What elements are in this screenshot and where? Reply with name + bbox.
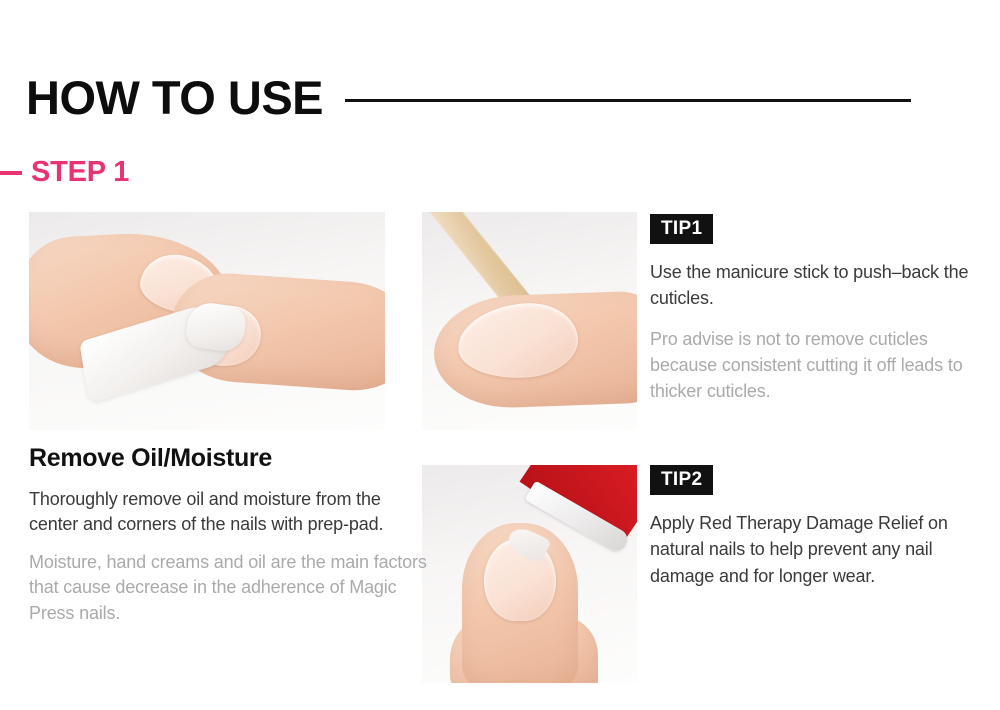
tip-block-2: TIP2 Apply Red Therapy Damage Relief on … xyxy=(650,465,990,589)
tip-2-primary-text: Apply Red Therapy Damage Relief on natur… xyxy=(650,510,990,589)
tip-badge-1: TIP1 xyxy=(650,214,713,244)
remove-oil-moisture-block: Remove Oil/Moisture Thoroughly remove oi… xyxy=(29,444,429,626)
tip-badge-2: TIP2 xyxy=(650,465,713,495)
tip-1-primary-text: Use the manicure stick to push–back the … xyxy=(650,259,990,312)
photo-red-therapy-application xyxy=(422,465,637,683)
photo-prep-pad-on-nail xyxy=(29,212,385,430)
title-divider-rule xyxy=(345,99,911,102)
how-to-use-page: HOW TO USE STEP 1 Remove Oil/Moisture xyxy=(0,0,1000,710)
section-primary-text: Thoroughly remove oil and moisture from … xyxy=(29,487,429,538)
step-indicator: STEP 1 xyxy=(0,158,129,187)
section-heading: Remove Oil/Moisture xyxy=(29,444,429,473)
step-dash-icon xyxy=(0,171,22,175)
page-header: HOW TO USE xyxy=(0,62,1000,132)
section-secondary-text: Moisture, hand creams and oil are the ma… xyxy=(29,550,429,627)
page-title: HOW TO USE xyxy=(26,74,323,121)
photo-manicure-stick xyxy=(422,212,637,430)
step-label: STEP 1 xyxy=(31,158,129,187)
tip-block-1: TIP1 Use the manicure stick to push–back… xyxy=(650,214,990,404)
tip-1-secondary-text: Pro advise is not to remove cuticles bec… xyxy=(650,326,990,405)
